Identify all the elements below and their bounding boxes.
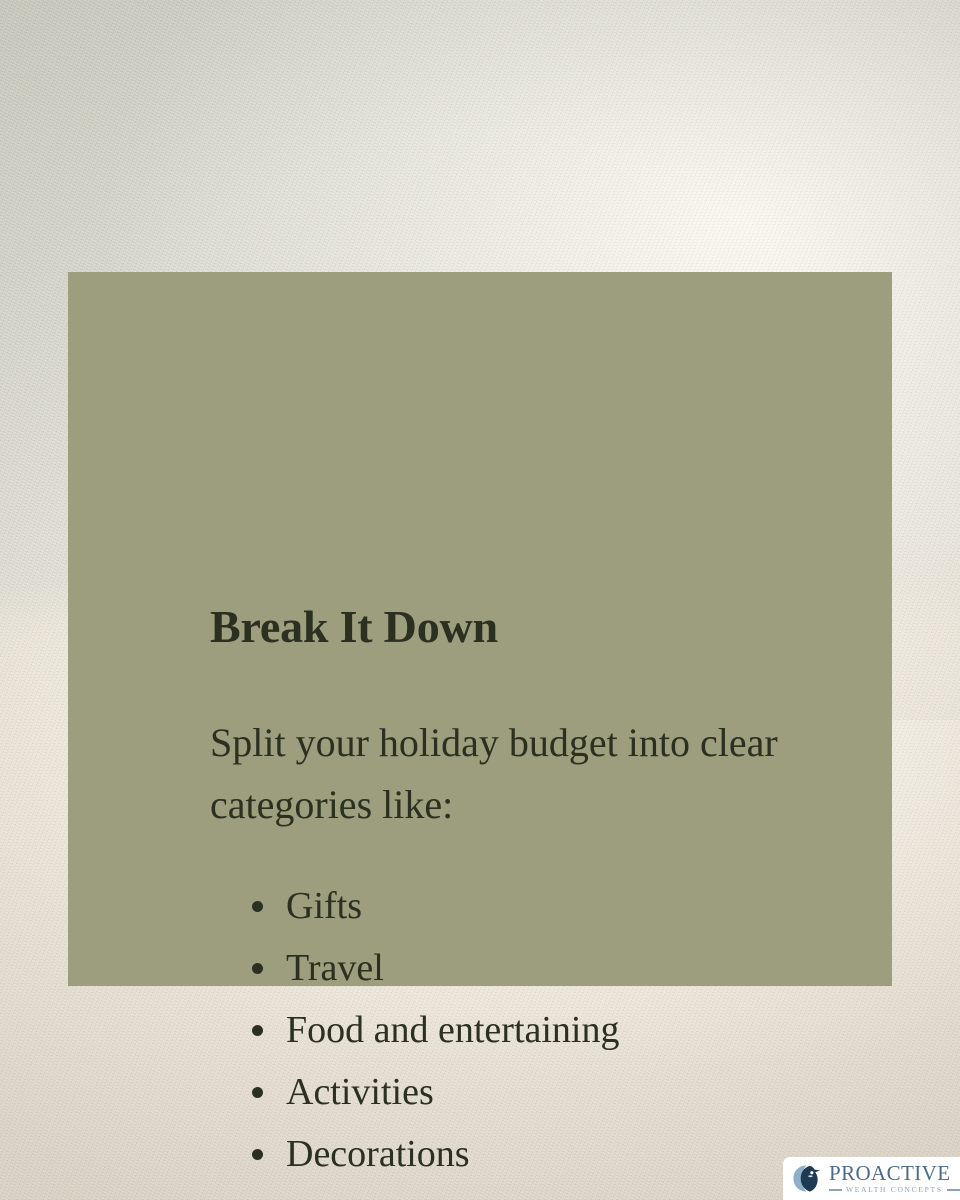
brand-tagline: WEALTH CONCEPTS: [846, 1186, 943, 1194]
slide-canvas: Break It Down Split your holiday budget …: [0, 0, 960, 1200]
bullet-dot-icon: [252, 1087, 263, 1098]
list-item: Gifts: [246, 880, 619, 942]
bullet-dot-icon: [252, 963, 263, 974]
bullet-dot-icon: [252, 1025, 263, 1036]
card-body-text: Split your holiday budget into clear cat…: [210, 712, 820, 836]
list-item: Decorations: [246, 1128, 619, 1190]
brand-logo-badge: PROACTIVE WEALTH CONCEPTS: [783, 1157, 960, 1200]
bullet-dot-icon: [252, 1149, 263, 1160]
list-item: Activities: [246, 1066, 619, 1128]
list-item: Travel: [246, 942, 619, 1004]
list-item-label: Decorations: [286, 1133, 470, 1175]
card-title: Break It Down: [210, 602, 498, 652]
content-card: Break It Down Split your holiday budget …: [68, 272, 892, 986]
list-item-label: Food and entertaining: [286, 1009, 619, 1051]
brand-wordmark: PROACTIVE: [829, 1163, 960, 1184]
list-item: Food and entertaining: [246, 1004, 619, 1066]
eagle-head-circle-icon: [792, 1163, 823, 1194]
tagline-rule-left: [829, 1189, 842, 1191]
list-item-label: Travel: [286, 947, 384, 989]
brand-tagline-row: WEALTH CONCEPTS: [829, 1186, 960, 1194]
list-item-label: Gifts: [286, 885, 362, 927]
bullet-dot-icon: [252, 901, 263, 912]
brand-logo-text: PROACTIVE WEALTH CONCEPTS: [829, 1163, 960, 1194]
list-item-label: Activities: [286, 1071, 434, 1113]
category-list: Gifts Travel Food and entertaining Activ…: [246, 880, 619, 1190]
tagline-rule-right: [947, 1189, 960, 1191]
